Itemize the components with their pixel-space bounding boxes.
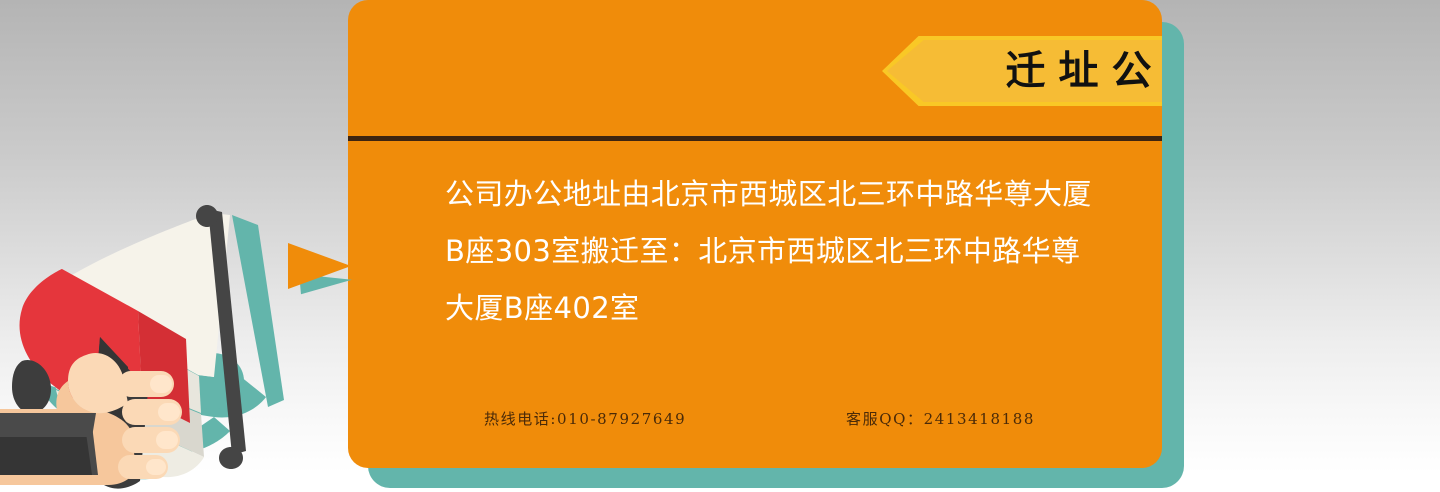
megaphone-illustration: [0, 185, 310, 492]
divider: [348, 136, 1162, 141]
hotline-phone-label: 热线电话:010-87927649: [484, 408, 686, 429]
page-title: 迁址公告: [882, 36, 1162, 106]
announcement-body-text: 公司办公地址由北京市西城区北三环中路华尊大厦B座303室搬迁至：北京市西城区北三…: [445, 166, 1095, 337]
title-banner: 迁址公告: [882, 36, 1162, 106]
sleeve-icon: [0, 413, 98, 475]
announcement-card: 迁址公告 公司办公地址由北京市西城区北三环中路华尊大厦B座303室搬迁至：北京市…: [348, 0, 1162, 468]
speech-bubble-tail: [288, 243, 351, 289]
contact-footer: 热线电话:010-87927649 客服QQ：2413418188: [348, 408, 1162, 438]
customer-service-qq-label: 客服QQ：2413418188: [846, 408, 1035, 429]
announcement-banner-image: 迁址公告 公司办公地址由北京市西城区北三环中路华尊大厦B座303室搬迁至：北京市…: [0, 0, 1440, 492]
